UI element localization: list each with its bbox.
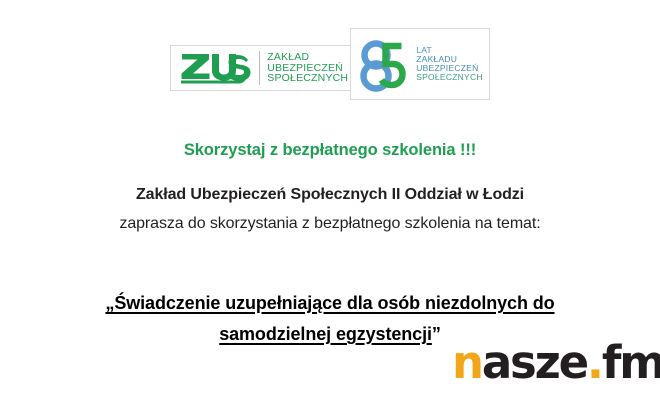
anniversary-logo-line-4: SPOŁECZNYCH — [416, 73, 483, 82]
training-title-line-1-text: „Świadczenie uzupełniające dla osób niez… — [105, 293, 554, 313]
organizer-text: Zakład Ubezpieczeń Społecznych II Oddzia… — [0, 186, 660, 204]
anniversary-logo-wordlines: LAT ZAKŁADU UBEZPIECZEŃ SPOŁECZNYCH — [413, 46, 483, 83]
nasze-fm-logo-n: n — [452, 336, 482, 389]
logo-bar: ZAKŁAD UBEZPIECZEŃ SPOŁECZNYCH — [0, 28, 660, 100]
85-anniversary-icon — [355, 36, 413, 92]
training-title-closing-quote: ” — [432, 324, 441, 344]
zus-logo-wordlines: ZAKŁAD UBEZPIECZEŃ SPOŁECZNYCH — [260, 46, 351, 90]
training-title-line-1: „Świadczenie uzupełniające dla osób niez… — [0, 288, 660, 319]
zus-wordmark-icon — [171, 46, 259, 90]
nasze-fm-logo-asze: asze — [482, 336, 587, 389]
zus-logo-line-3: SPOŁECZNYCH — [267, 73, 348, 84]
invitation-text: zaprasza do skorzystania z bezpłatnego s… — [0, 215, 660, 233]
nasze-fm-logo: nasze.fm — [452, 340, 660, 385]
nasze-fm-logo-fm: fm — [602, 336, 660, 389]
anniversary-logo: LAT ZAKŁADU UBEZPIECZEŃ SPOŁECZNYCH — [350, 28, 490, 100]
training-title-line-2-text: samodzielnej egzystencji — [219, 324, 432, 344]
zus-logo: ZAKŁAD UBEZPIECZEŃ SPOŁECZNYCH — [170, 45, 352, 91]
poster-canvas: ZAKŁAD UBEZPIECZEŃ SPOŁECZNYCH — [0, 0, 660, 400]
headline-text: Skorzystaj z bezpłatnego szkolenia !!! — [0, 141, 660, 160]
nasze-fm-logo-dot: . — [587, 336, 602, 389]
